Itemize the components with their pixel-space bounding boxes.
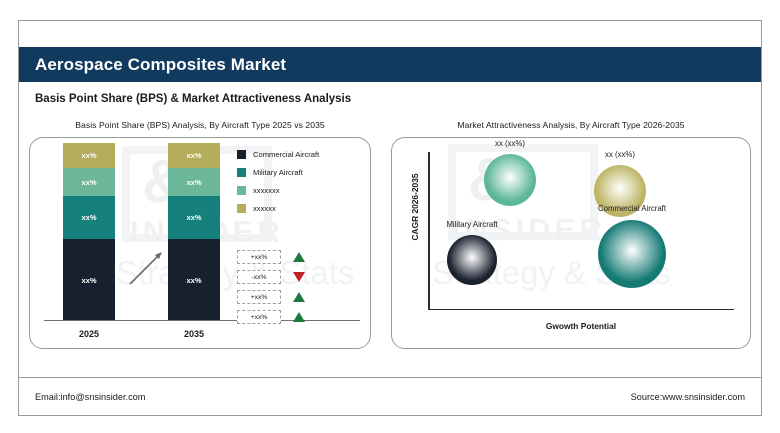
delta-row: -xx% (237, 270, 305, 284)
delta-row: +xx% (237, 310, 305, 324)
page-title: Aerospace Composites Market (35, 55, 286, 75)
legend-swatch-icon (237, 150, 246, 159)
legend-item-label: xxxxxxx (253, 186, 280, 195)
top-strip (19, 21, 761, 47)
attractiveness-x-axis-label: Gwowth Potential (428, 321, 734, 331)
legend-item-label: Commercial Aircraft (253, 150, 319, 159)
header-band: Aerospace Composites Market (19, 47, 761, 82)
infographic-card: Aerospace Composites Market Basis Point … (18, 20, 762, 416)
legend-item[interactable]: Commercial Aircraft (237, 150, 319, 159)
bar-segment[interactable]: xx% (168, 196, 220, 239)
bar-2025[interactable]: xx%xx%xx%xx% (63, 143, 115, 321)
attractiveness-y-axis (428, 152, 430, 310)
legend-item-label: xxxxxx (253, 204, 276, 213)
bar-segment-label: xx% (81, 178, 96, 187)
bps-x-axis (44, 320, 360, 321)
charts-region: Basis Point Share (BPS) Analysis, By Air… (19, 115, 761, 378)
bps-chart-column: Basis Point Share (BPS) Analysis, By Air… (19, 115, 381, 378)
attractiveness-chart-column: Market Attractiveness Analysis, By Aircr… (381, 115, 761, 378)
bar-2035[interactable]: xx%xx%xx%xx% (168, 143, 220, 321)
legend-item-label: Military Aircraft (253, 168, 303, 177)
axis-label-2025: 2025 (63, 329, 115, 339)
subtitle-row: Basis Point Share (BPS) & Market Attract… (19, 82, 761, 115)
legend-swatch-icon (237, 186, 246, 195)
bubble-marker[interactable] (484, 154, 536, 206)
bar-segment[interactable]: xx% (168, 168, 220, 196)
delta-row: +xx% (237, 290, 305, 304)
bar-segment[interactable]: xx% (168, 143, 220, 168)
bar-segment-label: xx% (186, 151, 201, 160)
bps-delta-list: +xx%-xx%+xx%+xx% (237, 250, 305, 330)
bubble-marker[interactable] (447, 235, 497, 285)
bps-legend: Commercial AircraftMilitary Aircraftxxxx… (237, 150, 319, 222)
bar-segment-label: xx% (186, 213, 201, 222)
bubble-label: xx (xx%) (450, 139, 570, 148)
bubble-label: xx (xx%) (560, 150, 680, 159)
attractiveness-chart-title: Market Attractiveness Analysis, By Aircr… (391, 115, 751, 137)
bar-segment[interactable]: xx% (168, 239, 220, 321)
attractiveness-chart-panel: & INSIDER Strategy & Stats CAGR 2026-203… (391, 137, 751, 349)
bps-chart-panel: & INSIDER Strategy & Stats xx%xx%xx%xx% … (29, 137, 371, 349)
legend-swatch-icon (237, 204, 246, 213)
bar-segment-label: xx% (81, 276, 96, 285)
arrow-down-icon (293, 272, 305, 282)
arrow-up-icon (293, 312, 305, 322)
attractiveness-x-axis (428, 309, 734, 311)
legend-item[interactable]: xxxxxx (237, 204, 319, 213)
bar-segment-label: xx% (186, 178, 201, 187)
axis-label-2035: 2035 (168, 329, 220, 339)
arrow-up-icon (293, 252, 305, 262)
bar-segment[interactable]: xx% (63, 239, 115, 321)
bar-segment[interactable]: xx% (63, 196, 115, 239)
attractiveness-y-axis-label: CAGR 2026-2035 (410, 162, 420, 252)
delta-row: +xx% (237, 250, 305, 264)
bubble-marker[interactable] (598, 220, 666, 288)
bubble-label: Military Aircraft (412, 220, 532, 229)
arrow-up-icon (293, 292, 305, 302)
footer-source: Source:www.snsinsider.com (631, 392, 745, 402)
bps-chart-title: Basis Point Share (BPS) Analysis, By Air… (29, 115, 371, 137)
legend-swatch-icon (237, 168, 246, 177)
delta-value-box: -xx% (237, 270, 281, 284)
bar-segment-label: xx% (81, 151, 96, 160)
footer: Email:info@snsinsider.com Source:www.sns… (19, 377, 761, 415)
bar-segment-label: xx% (81, 213, 96, 222)
delta-value-box: +xx% (237, 310, 281, 324)
legend-item[interactable]: xxxxxxx (237, 186, 319, 195)
bubble-plot-area: CAGR 2026-2035 Gwowth Potential xx (xx%)… (392, 138, 750, 348)
trend-arrow-icon (128, 250, 164, 286)
footer-email: Email:info@snsinsider.com (35, 392, 145, 402)
delta-value-box: +xx% (237, 290, 281, 304)
bubble-label: Commercial Aircraft (572, 204, 692, 213)
delta-value-box: +xx% (237, 250, 281, 264)
page-subtitle: Basis Point Share (BPS) & Market Attract… (35, 93, 351, 105)
bar-segment[interactable]: xx% (63, 143, 115, 168)
bps-plot-area: xx%xx%xx%xx% xx%xx%xx%xx% 2025 2035 Comm… (30, 138, 370, 348)
bar-segment[interactable]: xx% (63, 168, 115, 196)
bar-segment-label: xx% (186, 276, 201, 285)
legend-item[interactable]: Military Aircraft (237, 168, 319, 177)
